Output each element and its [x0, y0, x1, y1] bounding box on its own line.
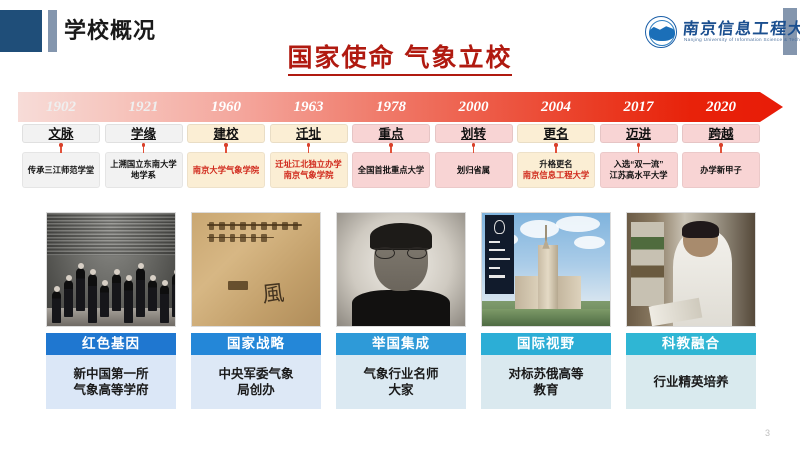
timeline-connector [225, 144, 227, 153]
timeline-category: 学缘 [105, 124, 183, 143]
timeline-connector [720, 144, 722, 153]
feature-card-text: 行业精英培养 [626, 355, 756, 409]
timeline-description: 南京大学气象学院 [187, 152, 265, 188]
page-number: 3 [765, 428, 770, 438]
timeline-year: 2000 [435, 96, 513, 118]
timeline-category: 迁址 [270, 124, 348, 143]
timeline-year: 1963 [270, 96, 348, 118]
historical-crowd-photo [46, 212, 176, 327]
history-timeline: 190219211960196319782000200420172020 文脉传… [18, 92, 783, 192]
timeline-connector [60, 144, 62, 153]
timeline-connector [473, 144, 475, 153]
timeline-entry[interactable]: 跨越办学新甲子 [682, 124, 760, 188]
timeline-entry[interactable]: 迁址迁址江北独立办学南京气象学院 [270, 124, 348, 188]
feature-card-text: 对标苏俄高等教育 [481, 355, 611, 409]
logo-name-cn: 南京信息工程大学 [682, 15, 800, 39]
timeline-entry[interactable]: 划转划归省属 [435, 124, 513, 188]
timeline-entry[interactable]: 建校南京大学气象学院 [187, 124, 265, 188]
feature-card[interactable]: 科教融合行业精英培养 [626, 212, 756, 409]
feature-card-text: 中央军委气象局创办 [191, 355, 321, 409]
timeline-year: 2017 [600, 96, 678, 118]
timeline-description: 升格更名南京信息工程大学 [517, 152, 595, 188]
timeline-category: 迈进 [600, 124, 678, 143]
timeline-entry[interactable]: 文脉传承三江师范学堂 [22, 124, 100, 188]
feature-card-title: 国家战略 [191, 333, 321, 355]
scholar-portrait-photo [336, 212, 466, 327]
timeline-connector [638, 144, 640, 153]
timeline-description: 划归省属 [435, 152, 513, 188]
timeline-category: 划转 [435, 124, 513, 143]
feature-card[interactable]: 举国集成气象行业名师大家 [336, 212, 466, 409]
feature-cards: 红色基因新中国第一所气象高等学府風国家战略中央军委气象局创办举国集成气象行业名师… [46, 212, 756, 412]
teacher-reading-photo [626, 212, 756, 327]
timeline-connector [143, 144, 145, 153]
page-title: 国家使命 气象立校 [0, 38, 800, 74]
timeline-description: 全国首批重点大学 [352, 152, 430, 188]
timeline-year: 2004 [517, 96, 595, 118]
moscow-university-photo [481, 212, 611, 327]
feature-card-title: 举国集成 [336, 333, 466, 355]
timeline-category: 建校 [187, 124, 265, 143]
timeline-category: 跨越 [682, 124, 760, 143]
page-title-text: 国家使命 气象立校 [288, 44, 513, 76]
timeline-category: 更名 [517, 124, 595, 143]
timeline-year: 1902 [22, 96, 100, 118]
timeline-entry[interactable]: 学缘上溯国立东南大学地学系 [105, 124, 183, 188]
timeline-description: 迁址江北独立办学南京气象学院 [270, 152, 348, 188]
timeline-description: 传承三江师范学堂 [22, 152, 100, 188]
timeline-connector [390, 144, 392, 153]
timeline-category: 文脉 [22, 124, 100, 143]
appointment-document-photo: 風 [191, 212, 321, 327]
timeline-entry[interactable]: 重点全国首批重点大学 [352, 124, 430, 188]
timeline-entry[interactable]: 更名升格更名南京信息工程大学 [517, 124, 595, 188]
timeline-year: 1960 [187, 96, 265, 118]
feature-card-text: 气象行业名师大家 [336, 355, 466, 409]
feature-card[interactable]: 红色基因新中国第一所气象高等学府 [46, 212, 176, 409]
feature-card[interactable]: 国际视野对标苏俄高等教育 [481, 212, 611, 409]
timeline-year: 1921 [105, 96, 183, 118]
timeline-entry[interactable]: 迈进入选“双一流”江苏高水平大学 [600, 124, 678, 188]
feature-card-text: 新中国第一所气象高等学府 [46, 355, 176, 409]
timeline-connector [555, 144, 557, 153]
feature-card[interactable]: 風国家战略中央军委气象局创办 [191, 212, 321, 409]
timeline-description: 办学新甲子 [682, 152, 760, 188]
timeline-connector [308, 144, 310, 153]
timeline-year: 2020 [682, 96, 760, 118]
feature-card-title: 国际视野 [481, 333, 611, 355]
feature-card-title: 科教融合 [626, 333, 756, 355]
timeline-description: 入选“双一流”江苏高水平大学 [600, 152, 678, 188]
timeline-year: 1978 [352, 96, 430, 118]
feature-card-title: 红色基因 [46, 333, 176, 355]
timeline-description: 上溯国立东南大学地学系 [105, 152, 183, 188]
timeline-category: 重点 [352, 124, 430, 143]
